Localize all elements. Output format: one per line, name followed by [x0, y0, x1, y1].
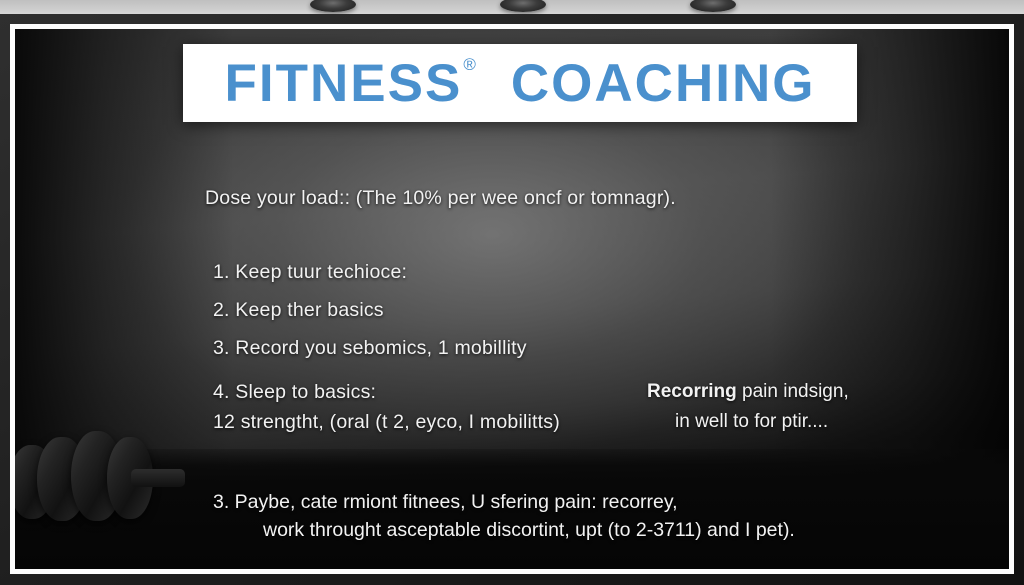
list-item-number: 1.	[213, 261, 230, 283]
list-item-detail: 12 strengtht, (oral (t 2, eyco, I mobili…	[213, 411, 560, 434]
list-item: 3. Record you sebomics, 1 mobillity	[213, 337, 527, 360]
list-item-number: 3.	[213, 337, 230, 359]
callout-line-1: Recorring pain indsign,	[647, 381, 849, 403]
list-item-label: Keep ther basics	[235, 299, 383, 321]
list-item-label: Sleep to basics:	[235, 381, 376, 403]
callout-rest: pain indsign,	[737, 381, 849, 402]
list-item-label: Keep tuur techioce:	[235, 261, 407, 283]
slide-body: Dose your load:: (The 10% per wee oncf o…	[15, 29, 1009, 569]
lead-line: Dose your load:: (The 10% per wee oncf o…	[205, 187, 676, 210]
wall-panel: FITNESS®COACHING Dose your load:: (The 1…	[15, 29, 1009, 569]
list-item: 1. Keep tuur techioce:	[213, 261, 407, 284]
slide-stage: FITNESS®COACHING Dose your load:: (The 1…	[0, 0, 1024, 585]
footer-line-2: work throught asceptable discortint, upt…	[263, 519, 795, 542]
list-item-number: 4.	[213, 381, 230, 403]
list-item-label: Record you sebomics, 1 mobillity	[235, 337, 526, 359]
callout-line-2: in well to for ptir....	[675, 411, 828, 433]
footer-line-1: 3. Paybe, cate rmiont fitnees, U sfering…	[213, 491, 678, 514]
list-item-number: 2.	[213, 299, 230, 321]
list-item: 2. Keep ther basics	[213, 299, 384, 322]
callout-emphasis: Recorring	[647, 381, 737, 402]
slide-frame: FITNESS®COACHING Dose your load:: (The 1…	[10, 24, 1014, 574]
list-item: 4. Sleep to basics:	[213, 381, 376, 404]
